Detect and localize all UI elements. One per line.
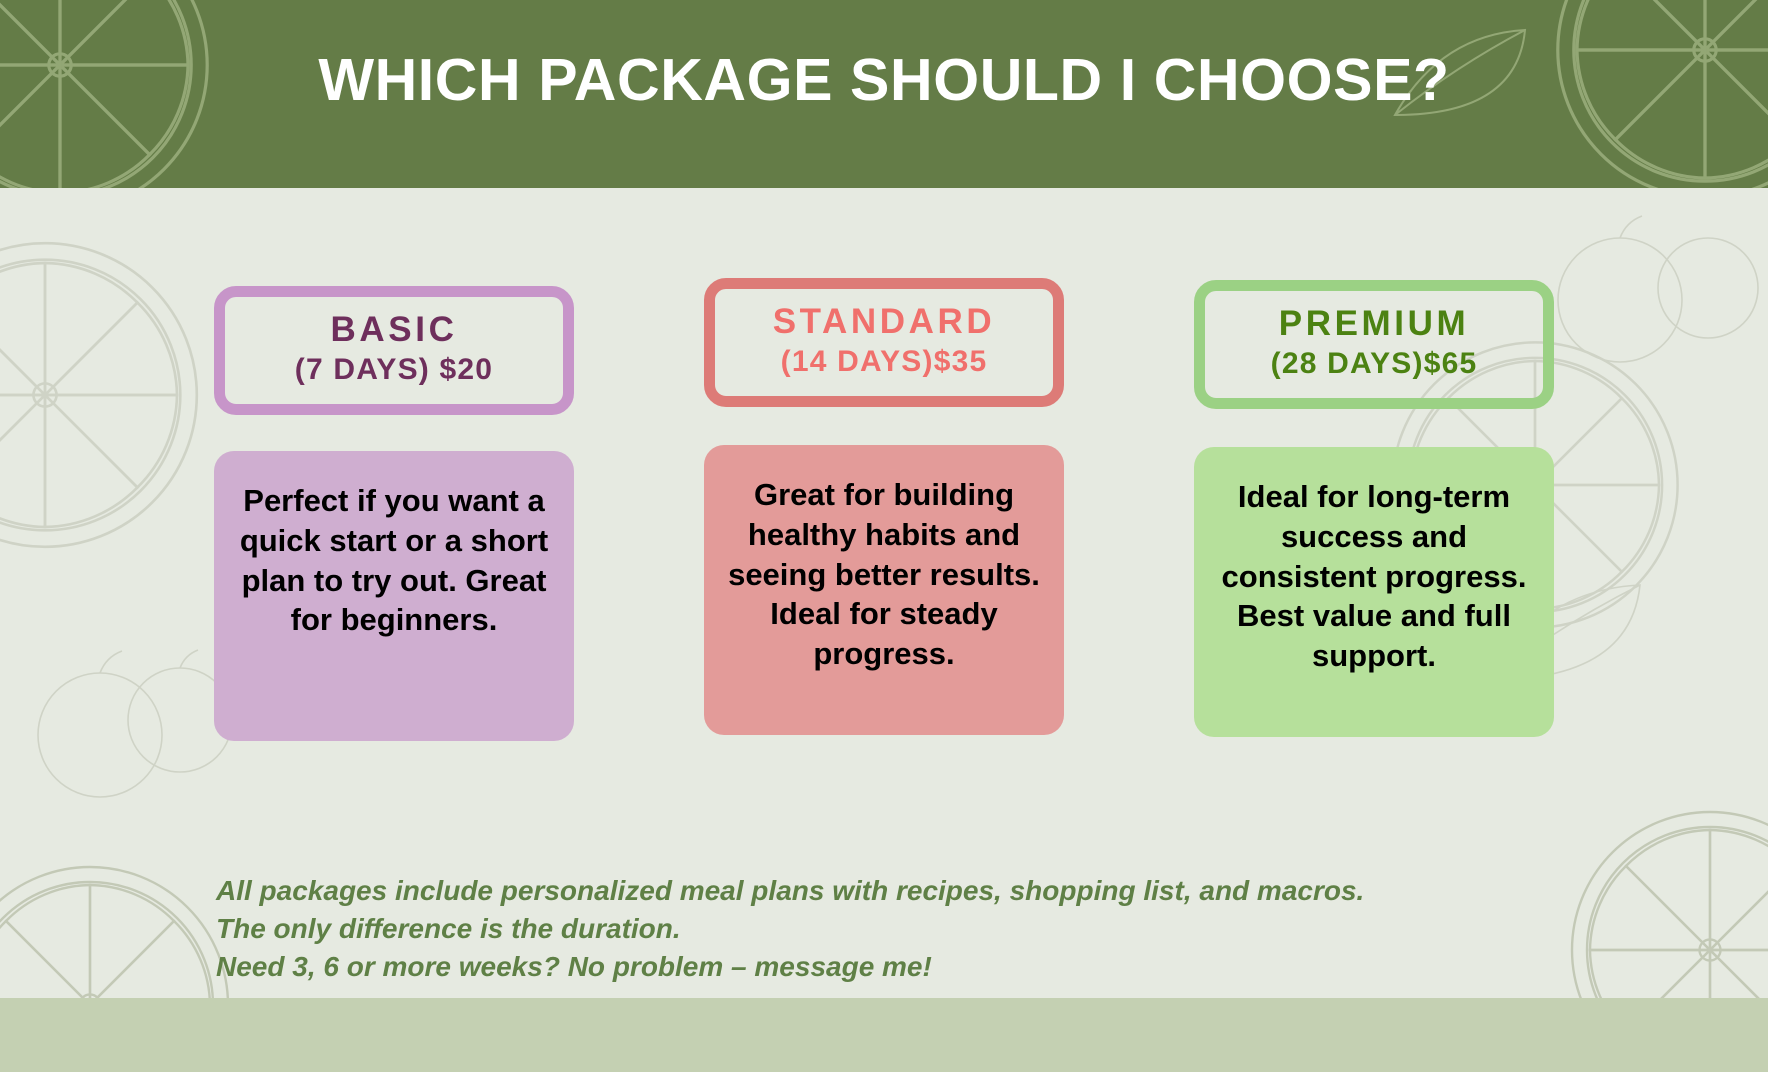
package-name-basic: BASIC [231,309,557,350]
slide-canvas: WHICH PACKAGE SHOULD I CHOOSE? BASIC (7 … [0,0,1768,1072]
package-name-premium: PREMIUM [1211,303,1537,344]
page-title: WHICH PACKAGE SHOULD I CHOOSE? [0,50,1768,112]
package-description-premium: Ideal for long-term success and consiste… [1194,447,1554,737]
package-header-basic[interactable]: BASIC (7 DAYS) $20 [214,286,574,415]
package-description-standard: Great for building healthy habits and se… [704,445,1064,735]
package-duration-price-premium: (28 DAYS)$65 [1211,346,1537,382]
footer-line-2: The only difference is the duration. [216,910,1516,948]
footer-note: All packages include personalized meal p… [216,872,1516,985]
package-card-standard[interactable]: STANDARD (14 DAYS)$35 Great for building… [704,278,1064,741]
package-header-standard[interactable]: STANDARD (14 DAYS)$35 [704,278,1064,407]
fruit-outline-icon [1530,200,1768,400]
package-name-standard: STANDARD [721,301,1047,342]
package-list: BASIC (7 DAYS) $20 Perfect if you want a… [214,286,1554,741]
package-card-basic[interactable]: BASIC (7 DAYS) $20 Perfect if you want a… [214,286,574,741]
header-bar: WHICH PACKAGE SHOULD I CHOOSE? [0,0,1768,188]
package-duration-price-basic: (7 DAYS) $20 [231,352,557,388]
package-header-premium[interactable]: PREMIUM (28 DAYS)$65 [1194,280,1554,409]
citrus-slice-icon [0,230,210,560]
bottom-accent-strip [0,998,1768,1072]
package-card-premium[interactable]: PREMIUM (28 DAYS)$65 Ideal for long-term… [1194,280,1554,741]
package-description-basic: Perfect if you want a quick start or a s… [214,451,574,741]
package-duration-price-standard: (14 DAYS)$35 [721,344,1047,380]
footer-line-3: Need 3, 6 or more weeks? No problem – me… [216,948,1516,986]
footer-line-1: All packages include personalized meal p… [216,872,1516,910]
